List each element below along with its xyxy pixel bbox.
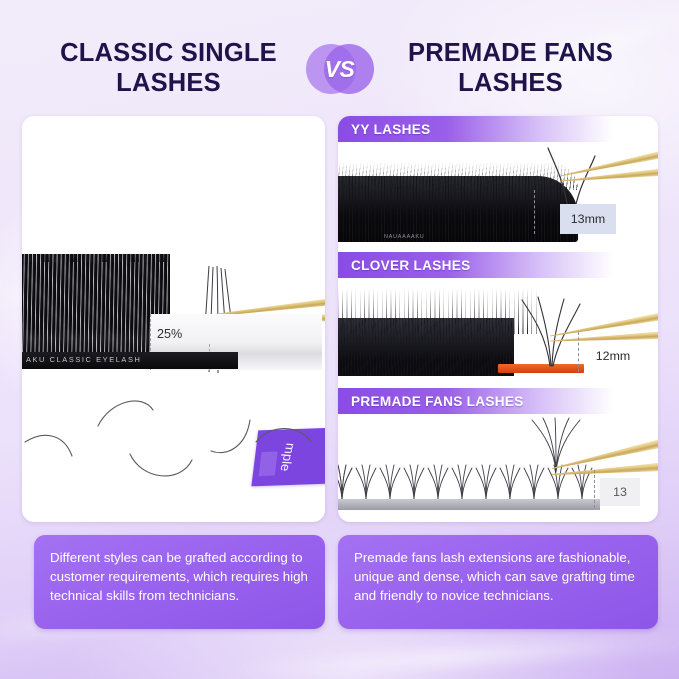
- measurement-label-clover: 12mm: [584, 342, 642, 370]
- fan-adhesive-rail: [338, 499, 600, 510]
- section-yy-lashes: YY LASHES NAUAAAAKU 13mm: [338, 116, 658, 250]
- section-banner: CLOVER LASHES: [338, 252, 658, 278]
- right-column-title: PREMADE FANS LASHES: [376, 39, 646, 99]
- measurement-label-fans: 13: [600, 478, 640, 506]
- tray-micro-text: NAUAAAAKU: [384, 234, 424, 240]
- section-premade-fans-lashes: PREMADE FANS LASHES: [338, 388, 658, 522]
- section-artwork: 13: [338, 414, 658, 522]
- section-banner: PREMADE FANS LASHES: [338, 388, 658, 414]
- lash-base-bar: AKU CLASSIC EYELASH: [22, 352, 238, 369]
- section-banner: YY LASHES: [338, 116, 658, 142]
- section-title: PREMADE FANS LASHES: [351, 394, 524, 409]
- left-description-box: Different styles can be grafted accordin…: [34, 535, 325, 629]
- section-artwork: 12mm: [338, 278, 658, 386]
- classic-lash-strip: [22, 254, 170, 352]
- background-light-streak: [230, 631, 679, 679]
- left-column-title: CLASSIC SINGLE LASHES: [34, 39, 304, 99]
- measure-guide-line: [534, 190, 535, 234]
- right-description-box: Premade fans lash extensions are fashion…: [338, 535, 658, 629]
- section-artwork: NAUAAAAKU 13mm: [338, 142, 658, 250]
- clover-lash-tray: [338, 318, 514, 376]
- classic-single-lashes-panel: 25% AKU CLASSIC EYELASH mple: [22, 116, 325, 522]
- section-title: CLOVER LASHES: [351, 258, 470, 273]
- vs-label: VS: [325, 56, 355, 83]
- section-clover-lashes: CLOVER LASHES 12: [338, 252, 658, 386]
- measure-guide-line: [578, 332, 579, 372]
- comparison-infographic: CLASSIC SINGLE LASHES VS PREMADE FANS LA…: [0, 0, 679, 679]
- measure-guide-line: [594, 470, 595, 508]
- percent-label: 25%: [157, 327, 182, 341]
- section-title: YY LASHES: [351, 122, 431, 137]
- brand-label: AKU CLASSIC EYELASH: [26, 355, 141, 364]
- orange-base-strip: [498, 364, 584, 373]
- header: CLASSIC SINGLE LASHES VS PREMADE FANS LA…: [0, 28, 679, 110]
- single-fan-on-tweezer: [530, 418, 582, 474]
- premade-fans-lashes-panel: YY LASHES NAUAAAAKU 13mm: [338, 116, 658, 522]
- yy-lash-tray: NAUAAAAKU: [338, 176, 578, 242]
- vs-badge: VS: [304, 38, 376, 100]
- fan-row-hairs: [338, 464, 602, 502]
- measurement-label-yy: 13mm: [560, 204, 616, 234]
- decorative-lash-curves: [22, 384, 325, 494]
